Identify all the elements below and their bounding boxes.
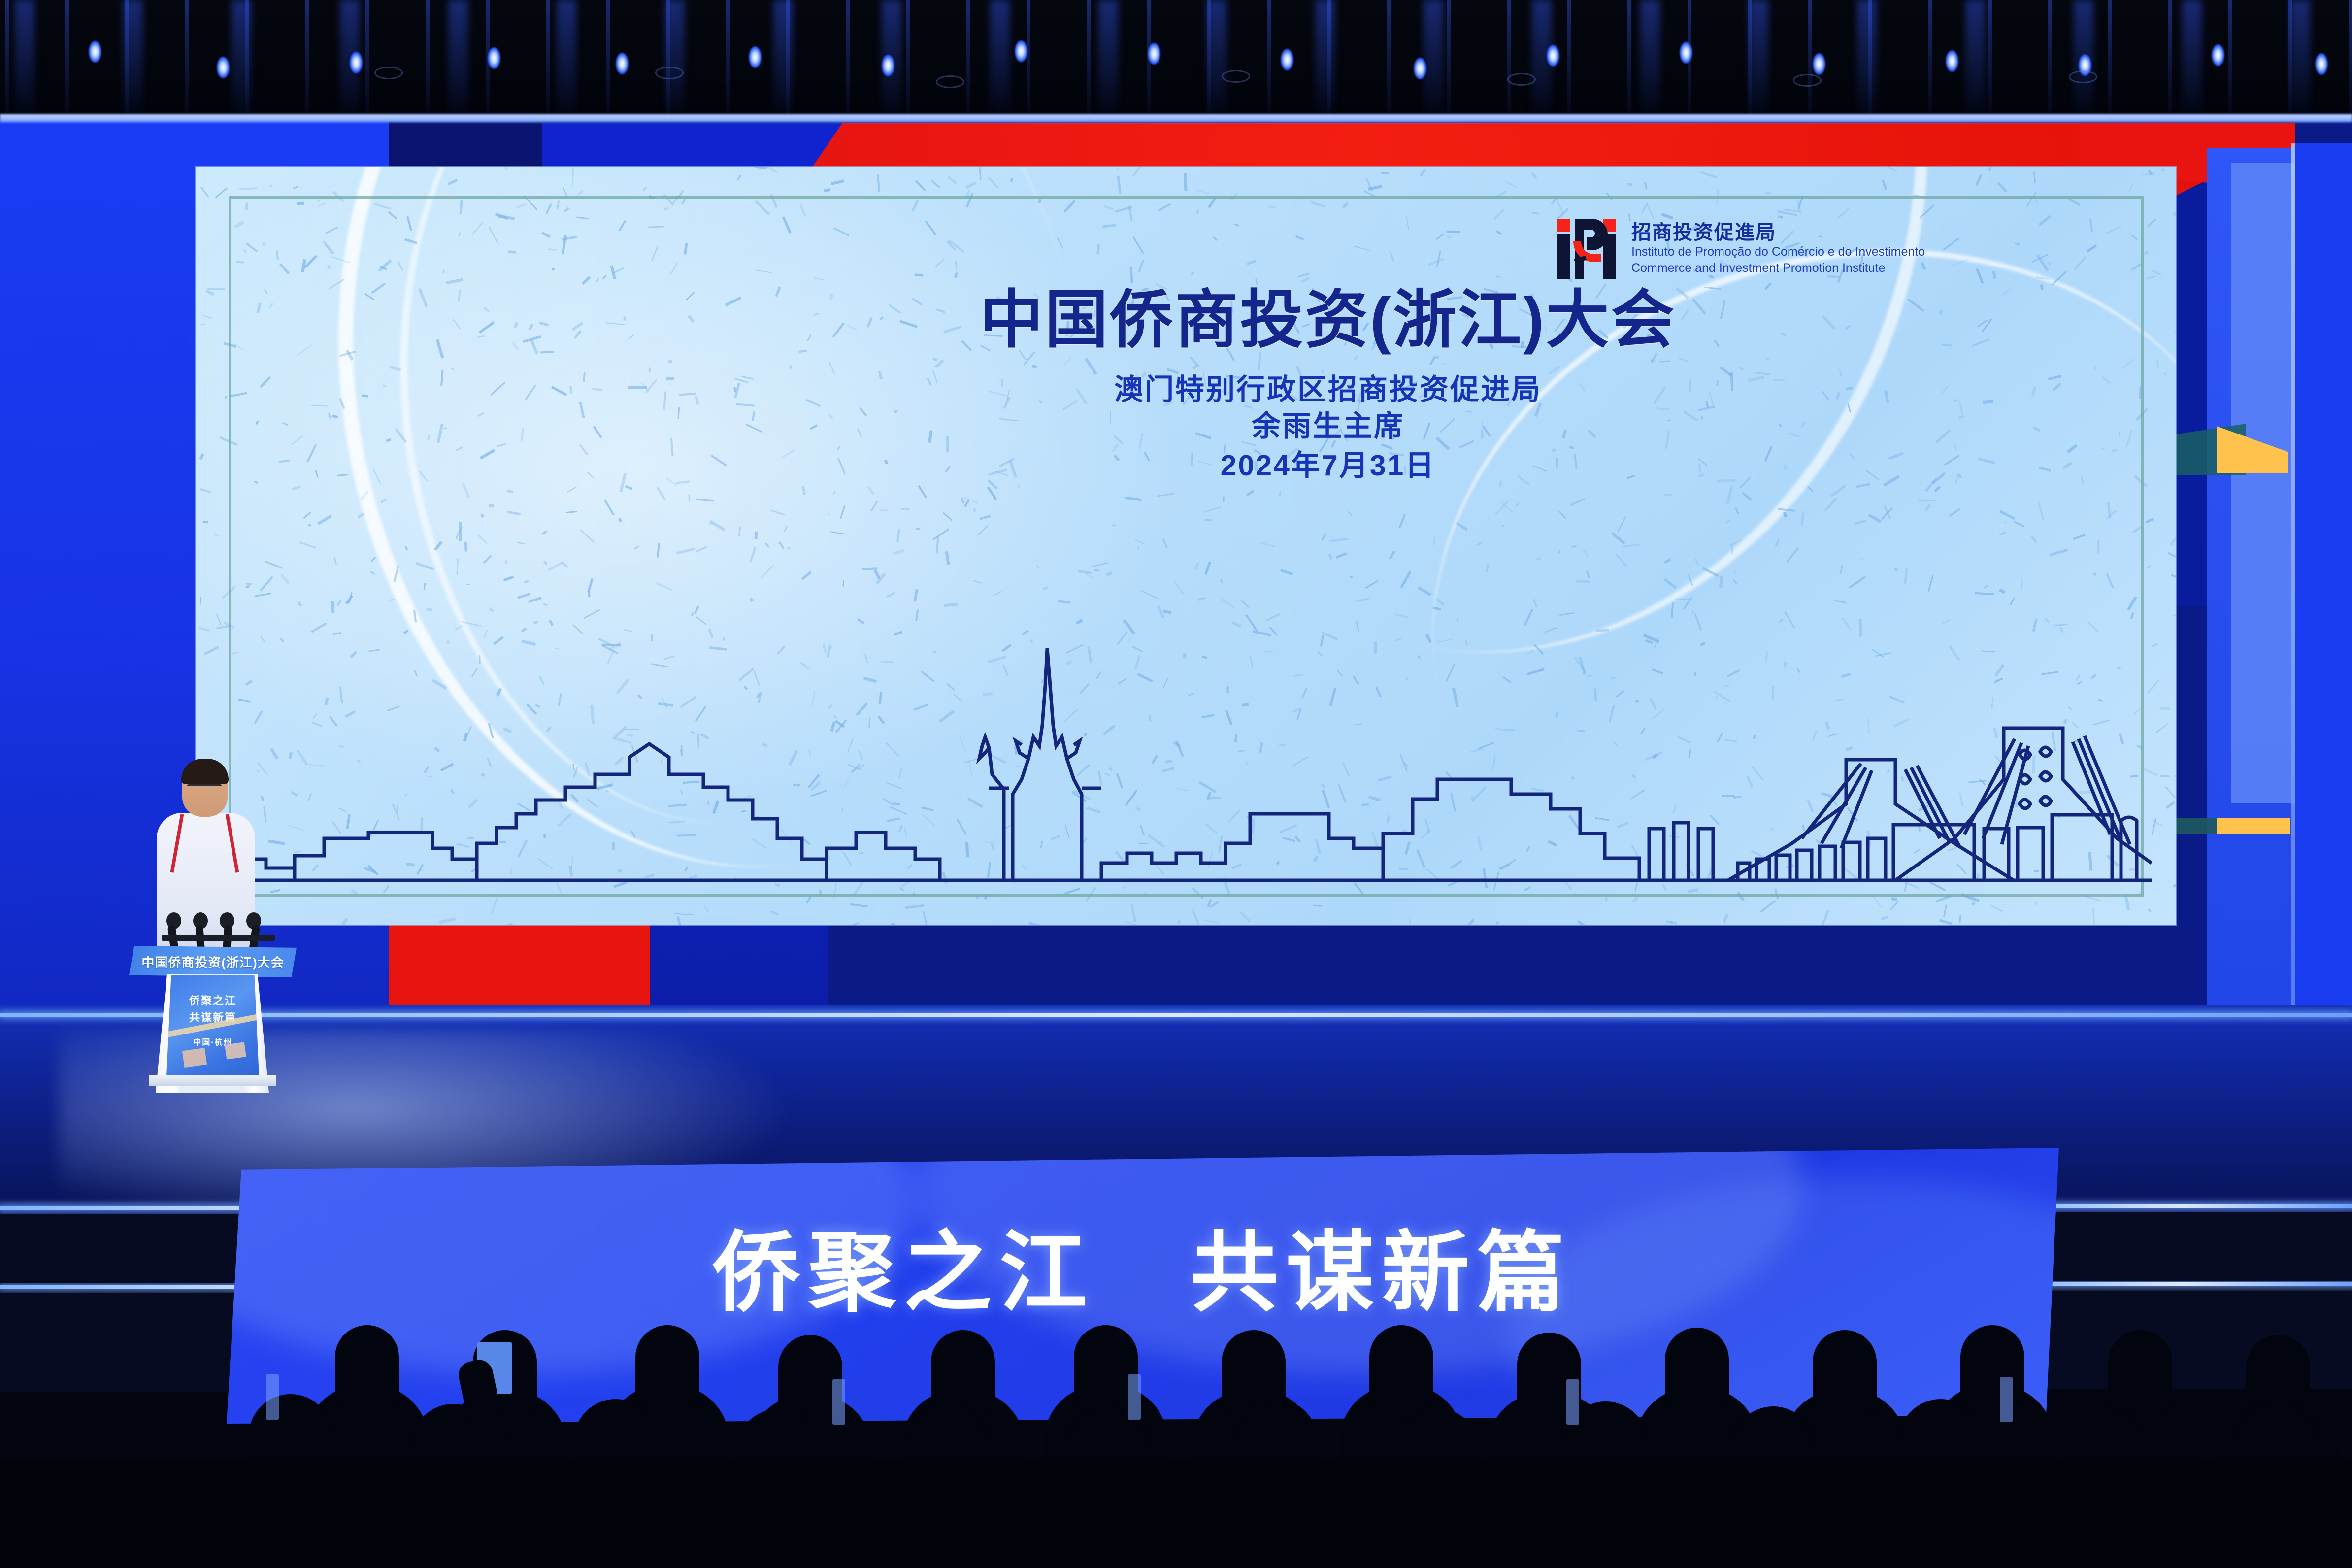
audience-water-bottle xyxy=(1566,1379,1579,1425)
podium-nameplate: 中国侨商投资(浙江)大会 xyxy=(129,946,297,977)
confetti-fleck xyxy=(891,923,895,925)
ceiling-light xyxy=(350,52,363,73)
ceiling-light-glow xyxy=(2182,0,2202,123)
logo-portuguese-name: Instituto de Promoção do Comércio e do I… xyxy=(1631,245,1925,259)
audience-foreground-dark xyxy=(0,1458,2352,1568)
ipim-logo: 招商投资促進局 Instituto de Promoção do Comérci… xyxy=(1556,218,1925,280)
audience-head xyxy=(1369,1325,1433,1409)
podium-front-panel: 侨聚之江 共谋新篇 中国·杭州 xyxy=(166,975,259,1077)
ceiling-light xyxy=(2315,53,2328,75)
confetti-fleck xyxy=(1627,183,1632,186)
truss-beam xyxy=(65,0,69,123)
audience-water-bottle xyxy=(2000,1377,2013,1422)
backdrop-right-yellow-bar xyxy=(2217,818,2290,834)
truss-beam xyxy=(726,0,730,123)
truss-beam xyxy=(5,0,9,123)
ceiling-light-glow xyxy=(1749,0,1768,123)
podium-nameplate-text: 中国侨商投资(浙江)大会 xyxy=(141,953,284,971)
ceiling-light-glow xyxy=(1098,0,1118,123)
ceiling-light xyxy=(1946,50,1958,72)
ceiling-light xyxy=(217,57,230,78)
audience-water-bottle xyxy=(832,1379,845,1425)
ceiling-light xyxy=(616,53,629,74)
ceiling-truss-ring xyxy=(374,67,403,79)
ceiling-light-glow xyxy=(123,0,143,123)
ceiling-light-glow xyxy=(665,0,685,123)
ceiling-light-glow xyxy=(1857,0,1877,123)
ceiling-light-glow xyxy=(1424,0,1443,123)
ceiling-light xyxy=(1547,45,1559,67)
ceiling-light xyxy=(1680,42,1692,64)
ceiling-light xyxy=(1148,43,1160,65)
truss-beam xyxy=(2108,0,2112,123)
confetti-fleck xyxy=(2175,436,2176,439)
ceiling-light-glow xyxy=(557,0,576,123)
ceiling-light-glow xyxy=(448,0,468,123)
conference-stage-photo: 招商投资促進局 Instituto de Promoção do Comérci… xyxy=(0,0,2352,1568)
ceiling-truss-ring xyxy=(655,67,684,79)
logo-english-name: Commerce and Investment Promotion Instit… xyxy=(1631,261,1925,275)
ceiling-light xyxy=(749,46,762,68)
ipim-logo-text: 招商投资促進局 Instituto de Promoção do Comérci… xyxy=(1631,222,1925,275)
ceiling-light-glow xyxy=(1207,0,1226,123)
truss-beam xyxy=(426,0,430,123)
truss-beam xyxy=(2349,0,2352,123)
podium-front-line-1: 侨聚之江 xyxy=(189,992,236,1008)
ceiling-truss-ring xyxy=(1507,73,1536,86)
ceiling-light xyxy=(89,41,101,63)
podium-base xyxy=(149,1075,276,1086)
ceiling-light-glow xyxy=(15,0,34,123)
banner-slogan: 侨聚之江 共谋新篇 xyxy=(227,1202,2059,1329)
microphone-mount-bar xyxy=(162,935,275,941)
truss-beam xyxy=(1027,0,1030,123)
event-speaker-name: 余雨生主席 xyxy=(762,408,1894,445)
audience-head xyxy=(635,1325,699,1409)
ceiling-light-glow xyxy=(773,0,793,123)
truss-beam xyxy=(606,0,610,123)
truss-beam xyxy=(2168,0,2172,123)
ceiling-light-glow xyxy=(2290,0,2310,123)
ceiling-truss xyxy=(0,0,2352,123)
truss-beam xyxy=(1447,0,1451,123)
speaker-hair xyxy=(181,759,229,784)
truss-beam xyxy=(966,0,970,123)
logo-chinese-name: 招商投资促進局 xyxy=(1631,222,1925,243)
ceiling-light-glow xyxy=(990,0,1010,123)
truss-beam xyxy=(1387,0,1391,123)
floor-led-strip-right2 xyxy=(2010,1282,2352,1286)
confetti-fleck xyxy=(2160,707,2170,709)
audience-water-bottle xyxy=(266,1374,279,1420)
backdrop-right-light-blue xyxy=(2231,163,2295,803)
confetti-fleck xyxy=(203,521,208,524)
ceiling-truss-ring xyxy=(1222,70,1250,83)
event-title: 中国侨商投资(浙江)大会 xyxy=(762,285,1894,355)
confetti-fleck xyxy=(1409,918,1411,924)
event-date: 2024年7月31日 xyxy=(762,447,1894,485)
truss-beam xyxy=(1808,0,1812,123)
confetti-fleck xyxy=(207,288,225,290)
truss-beam xyxy=(1087,0,1091,123)
truss-beam xyxy=(1507,0,1511,123)
truss-beam xyxy=(1567,0,1571,123)
ceiling-light-glow xyxy=(1640,0,1660,123)
podium-and-speaker: 中国侨商投资(浙江)大会 侨聚之江 共谋新篇 中国·杭州 xyxy=(103,739,310,1094)
truss-beam xyxy=(1267,0,1271,123)
ipim-logo-mark xyxy=(1556,218,1619,280)
ceiling-light xyxy=(2212,44,2224,66)
backdrop-right-column xyxy=(2295,143,2352,1015)
floor-led-strip-right1 xyxy=(2010,1204,2352,1208)
ceiling-light xyxy=(1015,40,1027,62)
audience-head xyxy=(1960,1325,2024,1409)
ceiling-truss-ring xyxy=(2069,70,2097,83)
main-presentation-screen: 招商投资促進局 Instituto de Promoção do Comérci… xyxy=(196,167,2176,925)
audience-head xyxy=(335,1325,399,1409)
truss-beam xyxy=(2048,0,2052,123)
audience-head xyxy=(1813,1330,1877,1414)
ceiling-light-glow xyxy=(1315,0,1335,123)
ceiling-truss-ring xyxy=(936,75,964,88)
event-organization: 澳门特别行政区招商投资促进局 xyxy=(762,372,1894,408)
confetti-fleck xyxy=(1766,192,1771,195)
podium-decor-square-2 xyxy=(225,1042,246,1059)
truss-beam xyxy=(185,0,189,123)
backdrop-top-light-line xyxy=(0,114,2352,122)
truss-beam xyxy=(546,0,550,123)
ceiling-light xyxy=(1813,53,1825,75)
truss-beam xyxy=(1988,0,1992,123)
ceiling-light-glow xyxy=(1965,0,1985,123)
macau-skyline-outline xyxy=(221,632,2152,907)
ceiling-light-glow xyxy=(232,0,251,123)
podium-decor-square-1 xyxy=(182,1048,207,1068)
audience-head xyxy=(2108,1330,2172,1414)
truss-beam xyxy=(1928,0,1932,123)
audience-head xyxy=(1665,1328,1729,1411)
audience-water-bottle xyxy=(1128,1374,1141,1420)
truss-beam xyxy=(846,0,850,123)
truss-beam xyxy=(906,0,910,123)
speaker-glasses xyxy=(187,784,222,792)
ceiling-light xyxy=(488,47,500,69)
screen-headline-block: 中国侨商投资(浙江)大会 澳门特别行政区招商投资促进局 余雨生主席 2024年7… xyxy=(762,285,1894,485)
audience-head xyxy=(931,1330,995,1414)
truss-beam xyxy=(2228,0,2232,123)
truss-beam xyxy=(1627,0,1631,123)
truss-beam xyxy=(365,0,369,123)
stage-step-right-1 xyxy=(2010,1212,2352,1281)
truss-beam xyxy=(305,0,309,123)
ceiling-truss-ring xyxy=(1793,74,1822,87)
floor-led-strip-top xyxy=(0,1013,2352,1017)
ceiling-light xyxy=(1281,49,1293,70)
